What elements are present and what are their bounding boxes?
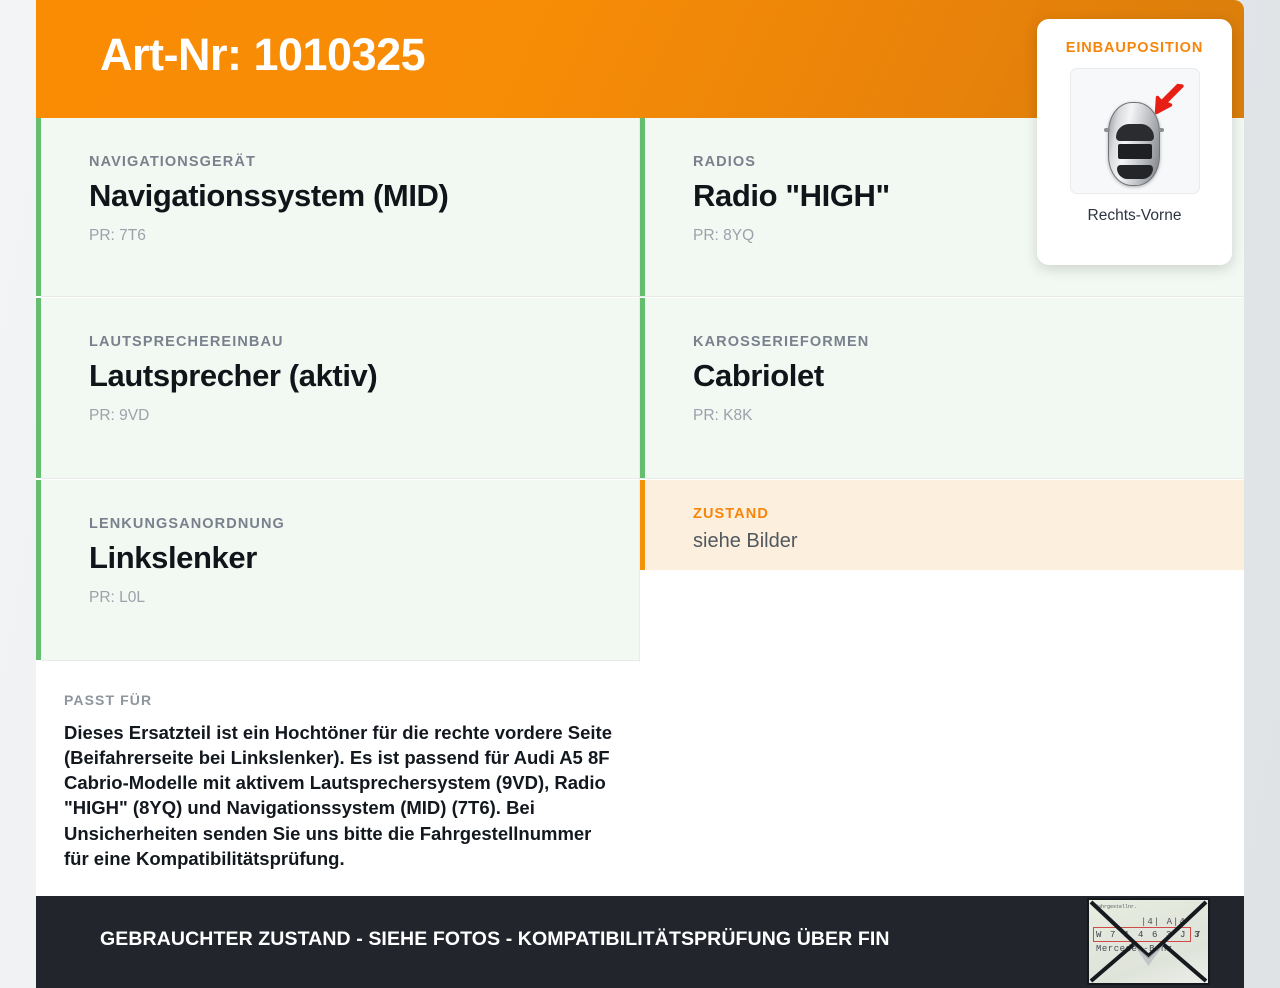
spec-pr-code: PR: L0L: [89, 589, 640, 607]
spec-cell-lenkungsanordnung: LENKUNGSANORDNUNG Linkslenker PR: L0L: [36, 480, 640, 660]
description-label: PASST FÜR: [64, 692, 612, 708]
row-divider: [41, 296, 1244, 297]
car-mirror-left: [1104, 128, 1110, 132]
product-spec-card: Art-Nr: 1010325 EINBAUPOSITION Rechts-Vo…: [36, 0, 1244, 988]
spec-value: Navigationssystem (MID): [89, 178, 640, 214]
car-roof: [1118, 144, 1152, 159]
row-divider: [41, 478, 1244, 479]
einbauposition-label: EINBAUPOSITION: [1037, 40, 1232, 56]
spec-value: Cabriolet: [693, 358, 1244, 394]
zustand-value: siehe Bilder: [693, 530, 1244, 553]
einbauposition-caption: Rechts-Vorne: [1037, 207, 1232, 225]
spec-pr-code: PR: 9VD: [89, 407, 640, 425]
spec-value: Lautsprecher (aktiv): [89, 358, 640, 394]
spec-label: LAUTSPRECHEREINBAU: [89, 334, 640, 350]
description-block: PASST FÜR Dieses Ersatzteil ist ein Hoch…: [36, 662, 640, 896]
spec-cell-zustand: ZUSTAND siehe Bilder: [640, 480, 1244, 570]
car-rear-window: [1117, 165, 1153, 179]
spec-pr-code: PR: 7T6: [89, 227, 640, 245]
envelope-document-thumbnail: Fahrgestellnr. |4| A|4 W 7 1 4 6 3 J 3 1…: [1087, 898, 1210, 985]
zustand-label: ZUSTAND: [693, 506, 1244, 522]
footer-bar: GEBRAUCHTER ZUSTAND - SIEHE FOTOS - KOMP…: [36, 896, 1244, 988]
spec-pr-code: PR: K8K: [693, 407, 1244, 425]
einbauposition-card: EINBAUPOSITION Rechts-Vorne: [1037, 19, 1232, 265]
spec-label: LENKUNGSANORDNUNG: [89, 516, 640, 532]
spec-cell-lautsprechereinbau: LAUTSPRECHEREINBAU Lautsprecher (aktiv) …: [36, 298, 640, 478]
spec-cell-navigationsgeraet: NAVIGATIONSGERÄT Navigationssystem (MID)…: [36, 118, 640, 296]
description-text: Dieses Ersatzteil ist ein Hochtöner für …: [64, 720, 612, 871]
spec-cell-karosserieformen: KAROSSERIEFORMEN Cabriolet PR: K8K: [640, 298, 1244, 478]
spec-label: KAROSSERIEFORMEN: [693, 334, 1244, 350]
row-divider: [41, 660, 640, 661]
position-arrow-icon: [1145, 83, 1185, 119]
einbauposition-image: [1070, 68, 1200, 194]
spec-label: NAVIGATIONSGERÄT: [89, 154, 640, 170]
spec-value: Linkslenker: [89, 540, 640, 576]
envelope-icon: [1089, 900, 1208, 983]
page-title: Art-Nr: 1010325: [100, 29, 425, 81]
car-mirror-right: [1158, 128, 1164, 132]
car-windshield: [1116, 124, 1154, 141]
footer-text: GEBRAUCHTER ZUSTAND - SIEHE FOTOS - KOMP…: [100, 928, 890, 951]
empty-filler-cell: [640, 570, 1244, 896]
